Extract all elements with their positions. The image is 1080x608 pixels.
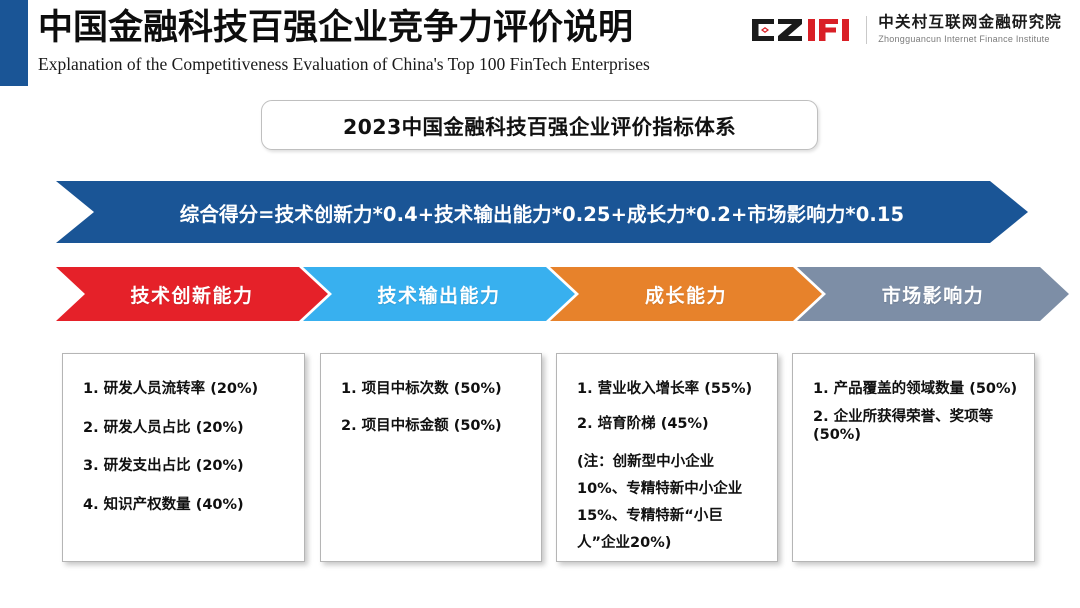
page-title-en: Explanation of the Competitiveness Evalu… (38, 53, 738, 76)
indicator-system-title: 2023中国金融科技百强企业评价指标体系 (343, 110, 736, 140)
dimension-chevron-market-influence: 市场影响力 (797, 267, 1069, 321)
header-text-group: 中国金融科技百强企业竞争力评价说明 Explanation of the Com… (38, 6, 738, 76)
composite-score-formula-banner: 综合得分=技术创新力*0.4+技术输出能力*0.25+成长力*0.2+市场影响力… (56, 181, 1028, 243)
indicator-box-tech-innovation: 1. 研发人员流转率 (20%) 2. 研发人员占比 (20%) 3. 研发支出… (62, 353, 305, 562)
czifi-logomark-icon (750, 17, 854, 43)
institute-logo: 中关村互联网金融研究院 Zhongguancun Internet Financ… (750, 10, 1062, 50)
header-accent-bar (0, 0, 28, 86)
dimension-label: 技术输出能力 (377, 281, 500, 308)
logo-name-cn: 中关村互联网金融研究院 (878, 14, 1062, 32)
dimension-chevron-tech-innovation: 技术创新能力 (56, 267, 328, 321)
composite-score-formula-text: 综合得分=技术创新力*0.4+技术输出能力*0.25+成长力*0.2+市场影响力… (180, 198, 904, 227)
indicator-item: 2. 研发人员占比 (20%) (83, 419, 288, 438)
indicator-system-title-box: 2023中国金融科技百强企业评价指标体系 (261, 100, 818, 150)
dimension-label: 成长能力 (645, 281, 727, 308)
indicator-item: 1. 研发人员流转率 (20%) (83, 380, 288, 399)
indicator-item: 2. 培育阶梯 (45%) (577, 415, 761, 434)
dimension-label: 市场影响力 (882, 281, 985, 308)
page-title-cn: 中国金融科技百强企业竞争力评价说明 (38, 6, 738, 51)
indicator-item: 1. 项目中标次数 (50%) (341, 380, 525, 399)
dimension-chevron-tech-output: 技术输出能力 (303, 267, 575, 321)
logo-name-en: Zhongguancun Internet Finance Institute (878, 34, 1062, 46)
indicator-box-growth: 1. 营业收入增长率 (55%) 2. 培育阶梯 (45%) (注：创新型中小企… (556, 353, 778, 562)
indicator-item: 1. 产品覆盖的领域数量 (50%) (813, 380, 1018, 399)
indicator-item: 2. 项目中标金额 (50%) (341, 417, 525, 436)
indicator-item: 3. 研发支出占比 (20%) (83, 457, 288, 476)
indicator-box-tech-output: 1. 项目中标次数 (50%) 2. 项目中标金额 (50%) (320, 353, 542, 562)
indicator-item: 4. 知识产权数量 (40%) (83, 496, 288, 515)
slide-canvas: 中国金融科技百强企业竞争力评价说明 Explanation of the Com… (0, 0, 1080, 608)
logo-divider (866, 16, 867, 44)
dimension-chevron-row: 技术创新能力 技术输出能力 成长能力 市场影响力 (0, 267, 1080, 321)
indicator-box-market-influence: 1. 产品覆盖的领域数量 (50%) 2. 企业所获得荣誉、奖项等 (50%) (792, 353, 1035, 562)
logo-wordmark: 中关村互联网金融研究院 Zhongguancun Internet Financ… (878, 14, 1062, 46)
dimension-label: 技术创新能力 (130, 281, 253, 308)
dimension-chevron-growth: 成长能力 (550, 267, 822, 321)
indicator-item: 1. 营业收入增长率 (55%) (577, 380, 761, 399)
indicator-item: 2. 企业所获得荣誉、奖项等 (50%) (813, 408, 1018, 445)
indicator-note: (注：创新型中小企业10%、专精特新中小企业15%、专精特新“小巨人”企业20%… (577, 449, 761, 556)
